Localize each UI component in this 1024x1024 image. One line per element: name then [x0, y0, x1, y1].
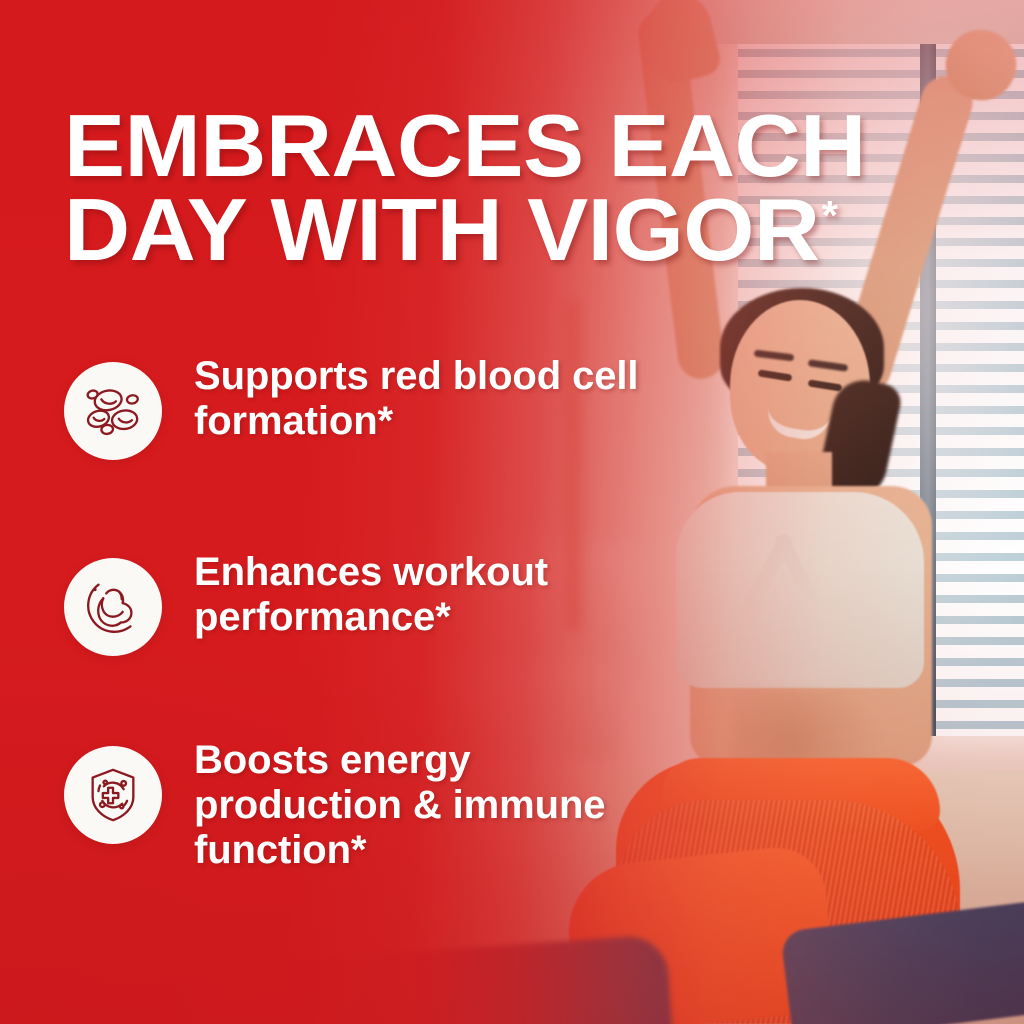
benefit-label: Supports red blood cell formation* [194, 352, 664, 444]
flexed-bicep-icon [82, 576, 144, 638]
shield-medical-cross-icon [82, 764, 144, 826]
benefit-item-energy-immune: Boosts energy production & immune functi… [64, 736, 684, 874]
benefit-item-red-blood-cells: Supports red blood cell formation* [64, 352, 684, 470]
headline-line-2: DAY WITH VIGOR* [64, 188, 969, 272]
benefit-icon-badge [64, 558, 162, 656]
red-blood-cells-icon [82, 380, 144, 442]
headline-line-1: EMBRACES EACH [64, 104, 969, 188]
benefit-icon-badge [64, 362, 162, 460]
headline-footnote-marker: * [822, 192, 838, 238]
page-title: EMBRACES EACH DAY WITH VIGOR* [64, 104, 969, 271]
benefit-label: Boosts energy production & immune functi… [194, 736, 664, 874]
poster-content: EMBRACES EACH DAY WITH VIGOR* [0, 0, 1024, 1024]
benefits-list: Supports red blood cell formation* [64, 352, 684, 894]
benefit-icon-badge [64, 746, 162, 844]
benefit-label: Enhances workout performance* [194, 548, 664, 640]
headline-line-2-text: DAY WITH VIGOR [64, 180, 819, 279]
promo-poster: EMBRACES EACH DAY WITH VIGOR* [0, 0, 1024, 1024]
benefit-item-workout-performance: Enhances workout performance* [64, 548, 684, 666]
